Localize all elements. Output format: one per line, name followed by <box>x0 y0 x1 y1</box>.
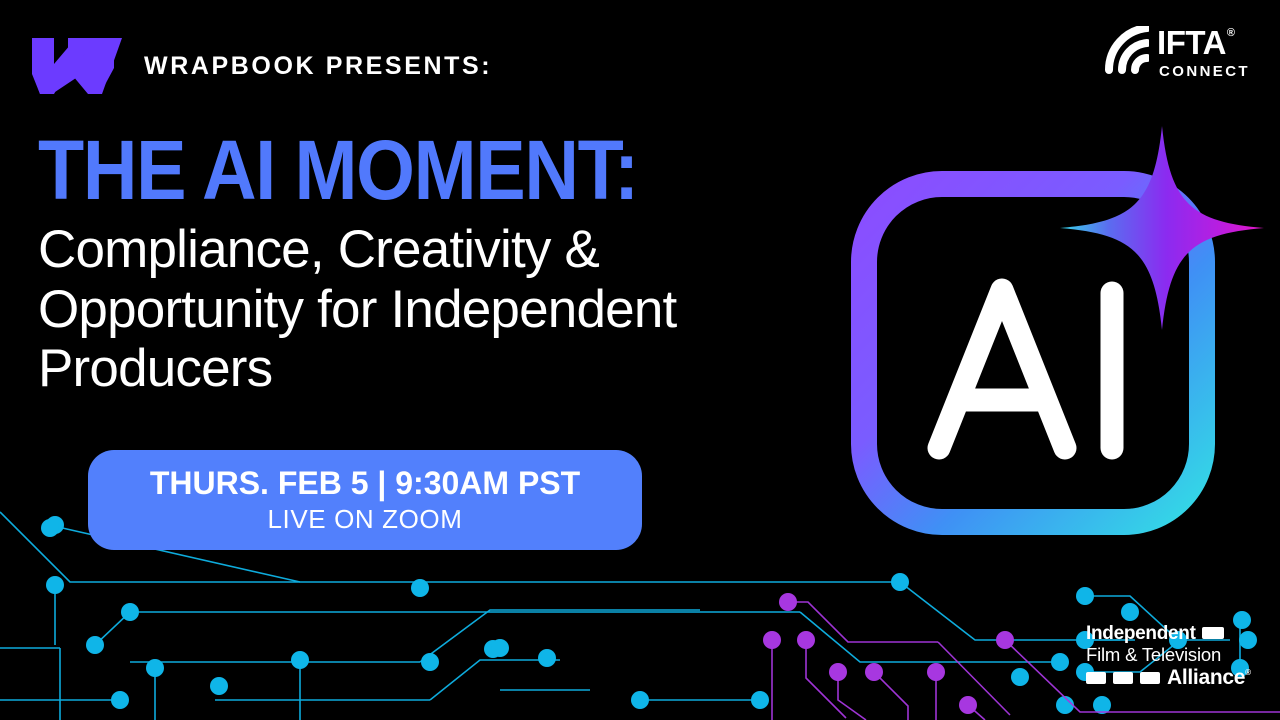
page-subtitle: Compliance, Creativity & Opportunity for… <box>38 220 798 398</box>
brand-presents-row: WRAPBOOK PRESENTS: <box>32 38 492 94</box>
ifta-wordmark: IFTA ® <box>1157 26 1234 59</box>
logo-block-icon <box>1140 672 1160 684</box>
presents-label: WRAPBOOK PRESENTS: <box>144 52 492 81</box>
ifta-alliance-text: Alliance <box>1167 667 1245 688</box>
wrapbook-w-logo-icon <box>32 38 122 94</box>
ifta-connect-logo: IFTA ® CONNECT <box>1103 26 1250 79</box>
ifta-name: IFTA <box>1157 26 1226 59</box>
wifi-arcs-icon <box>1103 26 1149 78</box>
event-datetime-pill[interactable]: THURS. FEB 5 | 9:30AM PST LIVE ON ZOOM <box>88 450 642 550</box>
page-title: THE AI MOMENT: <box>38 134 722 206</box>
headline-block: THE AI MOMENT: Compliance, Creativity & … <box>38 134 798 398</box>
promo-canvas: WRAPBOOK PRESENTS: IFTA ® CONNECT THE AI… <box>0 0 1280 720</box>
logo-block-icon <box>1113 672 1133 684</box>
ifta-alliance-logo: Independent Film & Television Alliance ® <box>1086 624 1254 689</box>
ai-square-sparkle-icon <box>840 118 1270 548</box>
registered-mark-icon: ® <box>1245 669 1251 677</box>
logo-block-icon <box>1202 627 1224 639</box>
ifta-connect-label: CONNECT <box>1159 64 1250 79</box>
event-datetime-label: THURS. FEB 5 | 9:30AM PST <box>150 465 580 502</box>
ifta-line-alliance: Alliance ® <box>1167 667 1251 688</box>
ifta-line-independent: Independent <box>1086 624 1196 643</box>
logo-block-icon <box>1086 672 1106 684</box>
event-platform-label: LIVE ON ZOOM <box>267 504 462 535</box>
ifta-line-film-television: Film & Television <box>1086 646 1221 665</box>
registered-mark-icon: ® <box>1227 28 1235 39</box>
